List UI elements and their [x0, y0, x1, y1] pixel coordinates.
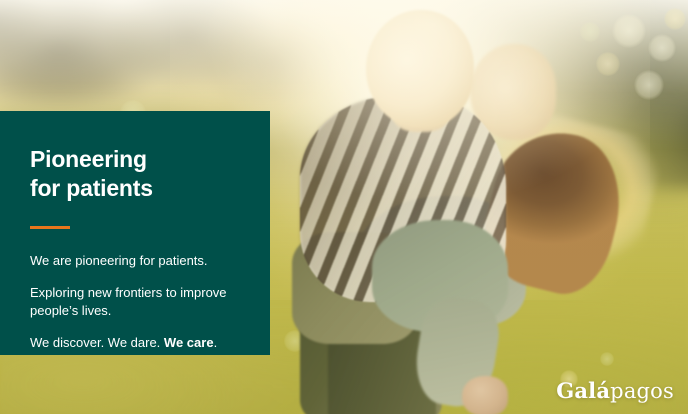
message-body: We are pioneering for patients. Explorin…	[30, 252, 240, 352]
orange-divider	[30, 226, 70, 229]
galapagos-logo: Galápagos	[556, 380, 674, 402]
body-paragraph-tagline: We are pioneering for patients.	[30, 252, 240, 270]
logo-text-light: pagos	[610, 379, 674, 403]
page-title-line-2: for patients	[30, 175, 153, 201]
logo-text-strong: Galá	[556, 378, 610, 403]
figure-woman-hand	[462, 376, 508, 414]
figure-child-head	[366, 10, 474, 128]
closing-suffix: .	[214, 335, 218, 350]
message-panel: Pioneering for patients We are pioneerin…	[0, 111, 270, 355]
page-title: Pioneering for patients	[30, 145, 240, 204]
closing-emphasis: We care	[164, 335, 214, 350]
page-title-line-1: Pioneering	[30, 146, 147, 172]
body-paragraph-mission: Exploring new frontiers to improve peopl…	[30, 284, 240, 320]
body-paragraph-closing: We discover. We dare. We care.	[30, 334, 240, 352]
hero-banner: Pioneering for patients We are pioneerin…	[0, 0, 688, 414]
closing-prefix: We discover. We dare.	[30, 335, 164, 350]
